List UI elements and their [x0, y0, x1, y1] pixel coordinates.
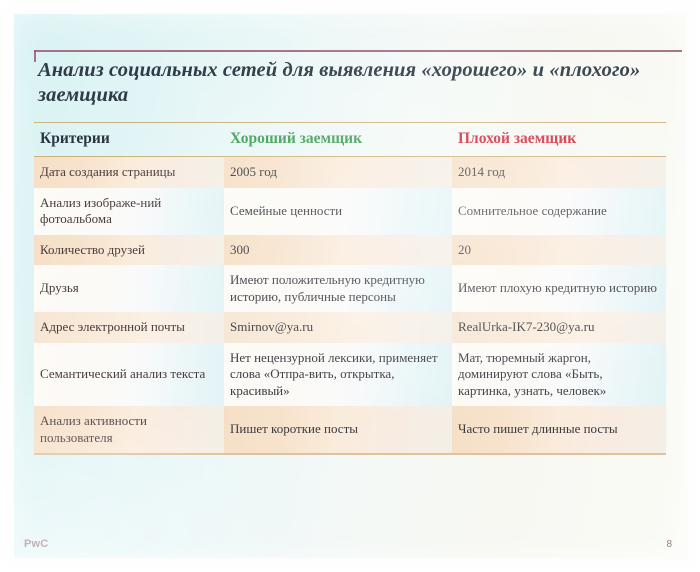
cell-good: Имеют положительную кредитную историю, п… [224, 265, 452, 312]
column-header-bad-borrower: Плохой заемщик [452, 123, 666, 157]
comparison-table: Критерии Хороший заемщик Плохой заемщик … [34, 122, 666, 453]
cell-criteria: Друзья [34, 265, 224, 312]
table-row: Количество друзей 300 20 [34, 235, 666, 266]
cell-criteria: Анализ изображе-ний фотоальбома [34, 188, 224, 235]
table-row: Дата создания страницы 2005 год 2014 год [34, 157, 666, 188]
page-number: 8 [666, 539, 672, 550]
cell-criteria: Анализ активности пользователя [34, 406, 224, 453]
cell-bad: Сомнительное содержание [452, 188, 666, 235]
cell-good: Семейные ценности [224, 188, 452, 235]
title-corner-tick [34, 50, 36, 62]
cell-bad: Мат, тюремный жаргон, доминируют слова «… [452, 343, 666, 407]
cell-criteria: Адрес электронной почты [34, 312, 224, 343]
cell-bad: 2014 год [452, 157, 666, 188]
column-header-criteria: Критерии [34, 123, 224, 157]
cell-criteria: Дата создания страницы [34, 157, 224, 188]
table-row: Семантический анализ текста Нет нецензур… [34, 343, 666, 407]
cell-bad: RealUrka-IK7-230@ya.ru [452, 312, 666, 343]
cell-good: Smirnov@ya.ru [224, 312, 452, 343]
table-row: Анализ активности пользователя Пишет кор… [34, 406, 666, 453]
cell-bad: Часто пишет длинные посты [452, 406, 666, 453]
slide-photograph: Анализ социальных сетей для выявления «х… [0, 0, 700, 572]
page-title: Анализ социальных сетей для выявления «х… [38, 58, 658, 108]
table-row: Друзья Имеют положительную кредитную ист… [34, 265, 666, 312]
cell-good: 2005 год [224, 157, 452, 188]
cell-bad: Имеют плохую кредитную историю [452, 265, 666, 312]
cell-criteria: Семантический анализ текста [34, 343, 224, 407]
table-bottom-rule [34, 453, 666, 455]
cell-good: Нет нецензурной лексики, применяет слова… [224, 343, 452, 407]
table-body: Дата создания страницы 2005 год 2014 год… [34, 157, 666, 454]
table-row: Анализ изображе-ний фотоальбома Семейные… [34, 188, 666, 235]
table-header-row: Критерии Хороший заемщик Плохой заемщик [34, 123, 666, 157]
cell-bad: 20 [452, 235, 666, 266]
cell-good: Пишет короткие посты [224, 406, 452, 453]
cell-criteria: Количество друзей [34, 235, 224, 266]
column-header-good-borrower: Хороший заемщик [224, 123, 452, 157]
table-row: Адрес электронной почты Smirnov@ya.ru Re… [34, 312, 666, 343]
table-header: Критерии Хороший заемщик Плохой заемщик [34, 123, 666, 157]
cell-good: 300 [224, 235, 452, 266]
pwc-logo: PwC [24, 538, 48, 550]
title-top-rule [34, 50, 682, 52]
